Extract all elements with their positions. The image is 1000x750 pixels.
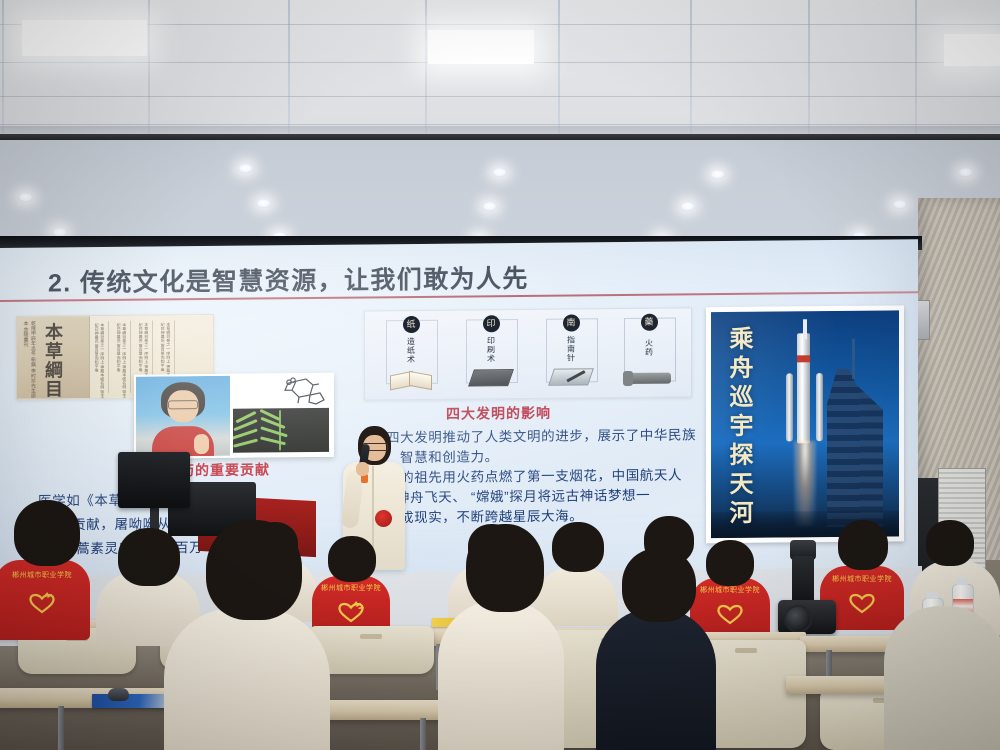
invention-gunpowder: 藥 火药 <box>613 313 685 392</box>
book-page-text-2: 本草綱目卷之一 序例上 神農本經名例 帝王紀曰神農氏 嘗百草而知平毒 <box>116 323 127 398</box>
downlight-icon <box>492 168 507 177</box>
downlight-icon <box>710 170 725 179</box>
audience-head <box>926 520 974 566</box>
audience-vest: 郴州城市职业学院 <box>0 560 90 640</box>
scientist-portrait <box>136 376 230 457</box>
launch-tower <box>827 369 883 528</box>
molecule-icon <box>272 377 326 406</box>
camera-flash <box>792 556 814 604</box>
open-book-icon <box>390 374 432 388</box>
invention-compass: 南 指南针 <box>535 314 607 393</box>
heart-hand-icon <box>847 592 877 614</box>
ceiling-panel-light <box>22 20 147 56</box>
center-body-line-3: 们的祖先用火药点燃了第一支烟花，中国航天人 <box>386 463 682 486</box>
invention-name: 火药 <box>644 333 655 363</box>
audience-head <box>14 500 80 566</box>
downlight-icon <box>18 193 33 202</box>
center-body-line-4: 神舟飞天、 “嫦娥”探月将远古神话梦想一 <box>396 484 650 506</box>
ceiling-tiles <box>0 0 1000 134</box>
audience-member <box>164 608 330 750</box>
dslr-camera <box>778 600 836 634</box>
audience-head <box>706 540 754 586</box>
slide-title: 2. 传统文化是智慧资源，让我们敢为人先 <box>48 259 529 300</box>
audience-member <box>884 606 1000 750</box>
audience-head <box>118 528 180 586</box>
book-side-text: 乾隆甲辰年孟冬 新鐫 李时珍先生原本 金陵重刊 <box>21 321 36 399</box>
tu-youyou-card <box>134 373 334 459</box>
printing-block-icon <box>468 369 514 386</box>
invention-badge: 南 <box>563 314 580 331</box>
heart-hand-icon <box>715 603 745 625</box>
audience-head <box>838 520 888 570</box>
vest-school-text: 郴州城市职业学院 <box>321 583 381 593</box>
book-cover: 乾隆甲辰年孟冬 新鐫 李时珍先生原本 金陵重刊 本草綱目 <box>17 316 90 399</box>
projection-screen: 2. 传统文化是智慧资源，让我们敢为人先 乾隆甲辰年孟冬 新鐫 李时珍先生原本 … <box>0 239 918 576</box>
artemisinin-panel <box>230 375 332 456</box>
downlight-icon <box>482 202 497 211</box>
invention-name: 指南针 <box>566 333 577 363</box>
downlight-icon <box>892 200 907 209</box>
camera-lens-icon <box>784 605 812 633</box>
vest-school-text: 郴州城市职业学院 <box>700 585 760 595</box>
center-body-line-2: 智慧和创造力。 <box>400 445 499 466</box>
cannon-icon <box>627 373 671 384</box>
four-inventions-card: 纸 造纸术 印 印刷术 南 指南针 藥 <box>364 307 692 400</box>
audience-head <box>622 548 696 622</box>
invention-badge: 藥 <box>641 314 658 331</box>
ceiling-panel-light <box>428 30 534 64</box>
invention-name: 印刷术 <box>486 334 497 364</box>
vest-school-text: 郴州城市职业学院 <box>832 574 892 584</box>
audience-head <box>206 520 302 620</box>
rocket-body <box>797 333 810 443</box>
glasses-icon <box>168 400 198 409</box>
center-body-line-1: 四大发明推动了人类文明的进步，展示了中华民族 <box>386 423 696 446</box>
audience-head <box>328 536 376 582</box>
invention-name: 造纸术 <box>406 335 417 365</box>
lecture-hall-photo: 2. 传统文化是智慧资源，让我们敢为人先 乾隆甲辰年孟冬 新鐫 李时珍先生原本 … <box>0 0 1000 750</box>
book-title: 本草綱目 <box>40 322 66 398</box>
mouse <box>108 688 129 701</box>
book-page-text: 本草綱目卷之一 序例上 神農本經名例 帝王紀曰神農氏 嘗百草而知平毒 <box>94 323 105 398</box>
downlight-icon <box>680 202 695 211</box>
audience-member <box>596 608 716 750</box>
presenter-monitor <box>118 452 190 508</box>
invention-papermaking: 纸 造纸术 <box>375 316 447 395</box>
invention-printing: 印 印刷术 <box>455 315 527 394</box>
artemisia-photo <box>233 408 329 453</box>
center-body-line-5: 成现实，不断跨越星辰大海。 <box>400 504 583 526</box>
rocket-launch-card: 乘舟巡宇探天河 <box>706 305 904 543</box>
downlight-icon <box>238 164 253 173</box>
section-heading: 四大发明的影响 <box>446 403 551 424</box>
audience-head <box>466 524 544 612</box>
calligraphy-text: 乘舟巡宇探天河 <box>721 326 756 529</box>
downlight-icon <box>958 168 973 177</box>
heart-hand-icon <box>336 601 366 623</box>
rocket-launch-photo: 乘舟巡宇探天河 <box>711 310 899 538</box>
wall-control-box <box>916 300 930 340</box>
ceiling-soffit <box>0 140 1000 248</box>
invention-badge: 纸 <box>403 316 420 333</box>
presenter-badge <box>375 510 392 527</box>
ceiling-panel-light <box>944 34 1000 66</box>
downlight-icon <box>256 199 271 208</box>
heart-hand-icon <box>27 592 57 614</box>
invention-badge: 印 <box>483 315 500 332</box>
vest-school-text: 郴州城市职业学院 <box>12 570 72 580</box>
audience-head <box>552 522 604 572</box>
audience-member <box>438 600 564 750</box>
